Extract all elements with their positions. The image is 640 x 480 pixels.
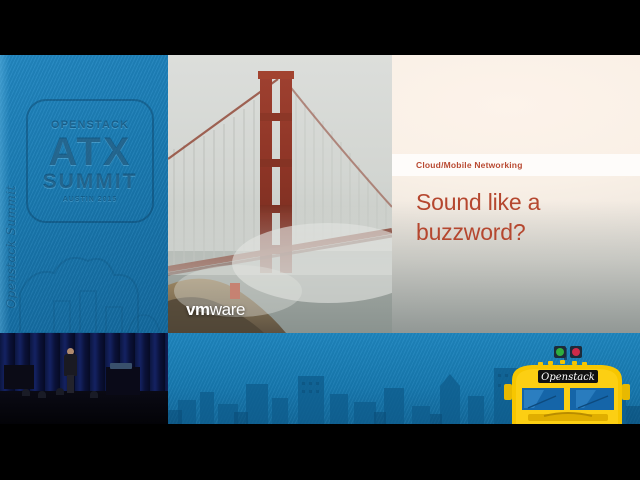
slide-title-line-2: buzzword? — [416, 217, 616, 247]
vmware-logo-light: ware — [210, 300, 245, 319]
letterbox-bar-top — [0, 0, 640, 55]
podium-laptop — [110, 363, 132, 369]
traffic-light-green — [556, 348, 564, 356]
openstack-atx-summit-banner: OPENSTACK ATX SUMMIT AUSTIN 2015 Opensta… — [0, 55, 168, 333]
austin-skyline-graphic: Openstack — [168, 333, 640, 424]
screenshot-root: OPENSTACK ATX SUMMIT AUSTIN 2015 Opensta… — [0, 0, 640, 480]
speaker-body — [64, 354, 77, 376]
slide-eyebrow-band: Cloud/Mobile Networking — [392, 154, 640, 176]
speaker-on-stage-video[interactable] — [0, 333, 168, 424]
vmware-logo-bold: vm — [186, 300, 210, 319]
logo-summit-text: SUMMIT — [43, 171, 138, 192]
audience-head — [38, 391, 46, 398]
audience-head — [22, 389, 30, 396]
bus-mirror-right — [622, 384, 630, 400]
bus-mirror-left — [504, 384, 512, 400]
vmware-logo: vmware — [186, 300, 245, 320]
logo-date-text: AUSTIN 2015 — [63, 196, 118, 203]
audience-head — [56, 388, 64, 395]
vmware-presentation-slide: vmware Cloud/Mobile Networking Sound lik… — [168, 55, 640, 333]
bus-sign-label: Openstack — [541, 372, 595, 383]
logo-atx-text: ATX — [48, 132, 131, 172]
traffic-light-red — [572, 348, 580, 356]
bus-grille — [528, 414, 608, 421]
golden-gate-bridge-photo: vmware — [168, 55, 392, 333]
slide-title: Sound like a buzzword? — [416, 187, 616, 248]
bridge-illustration — [168, 55, 392, 333]
slide-title-line-1: Sound like a — [416, 189, 540, 215]
logo-openstack-text: OPENSTACK — [51, 120, 129, 131]
banner-vertical-script-text: Openstack Summit — [4, 185, 24, 309]
slide-eyebrow-text: Cloud/Mobile Networking — [416, 160, 523, 170]
openstack-school-bus: Openstack — [498, 346, 638, 424]
atx-summit-logo: OPENSTACK ATX SUMMIT AUSTIN 2015 — [26, 99, 154, 223]
audience-head — [90, 391, 98, 398]
bottom-strip: Openstack — [0, 333, 640, 424]
banner-cloud-skyline-doodle — [10, 223, 168, 333]
letterbox-bar-bottom — [0, 424, 640, 480]
audience-row — [0, 385, 168, 399]
